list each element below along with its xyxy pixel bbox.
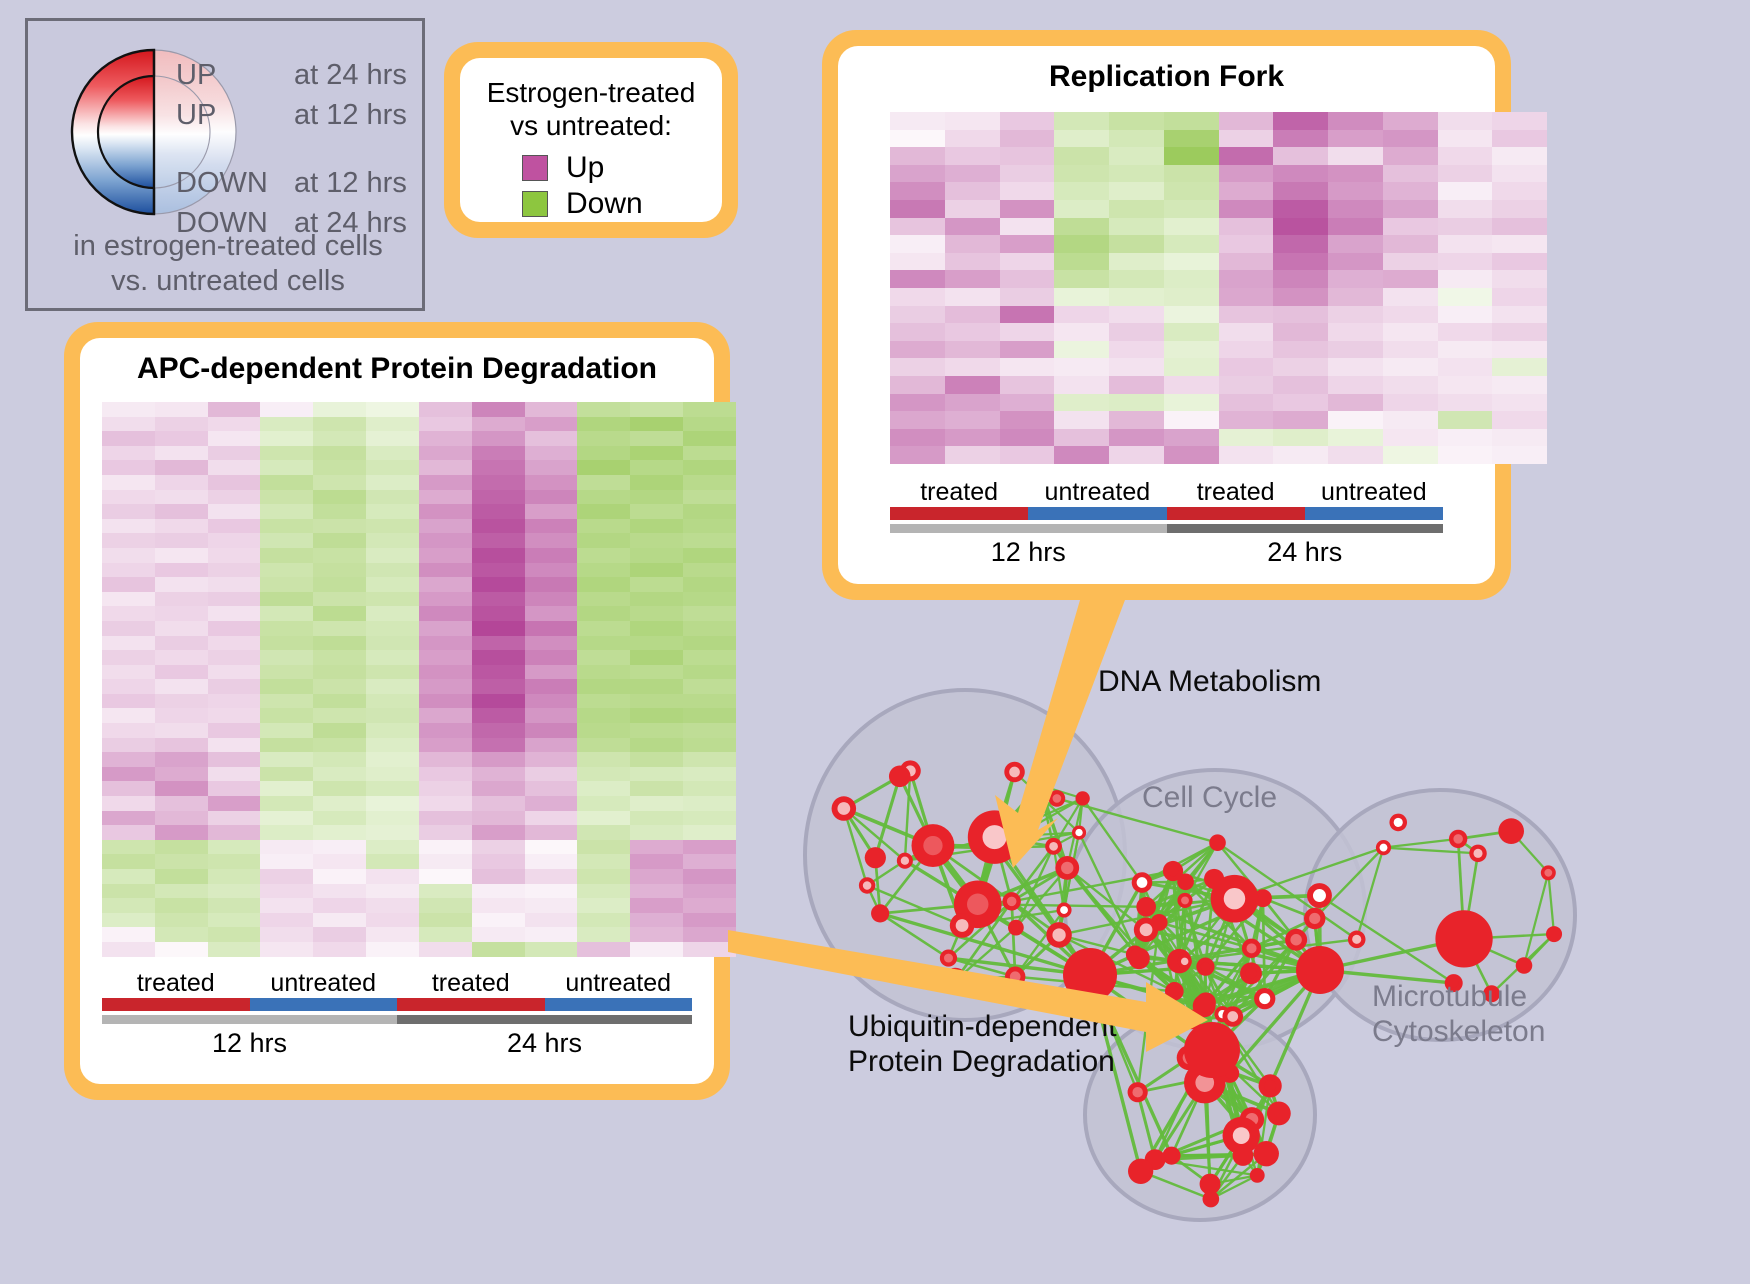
- heatmap-cell: [208, 577, 261, 592]
- network-node-center: [1060, 906, 1068, 914]
- heatmap-cell: [366, 927, 419, 942]
- network-node-center: [1052, 928, 1065, 941]
- heatmap-cell: [155, 446, 208, 461]
- group-label: treated: [397, 969, 545, 998]
- heatmap-cell: [1438, 270, 1493, 288]
- heatmap-cell: [1438, 358, 1493, 376]
- network-node-center: [1352, 935, 1361, 944]
- heatmap-cell: [366, 854, 419, 869]
- heatmap-cell: [945, 112, 1000, 130]
- heatmap-cell: [366, 577, 419, 592]
- heatmap-cell: [525, 723, 578, 738]
- heatmap-cell: [260, 679, 313, 694]
- heatmap-cell: [313, 490, 366, 505]
- heatmap-cell: [208, 854, 261, 869]
- heatmap-cell: [102, 694, 155, 709]
- network-node-center: [1309, 913, 1320, 924]
- group-label: untreated: [250, 969, 398, 998]
- heatmap-cell: [313, 884, 366, 899]
- network-node-center: [1453, 834, 1463, 844]
- network-node[interactable]: [1177, 873, 1194, 890]
- network-node[interactable]: [1203, 1191, 1220, 1208]
- treatment-bar: [397, 998, 545, 1011]
- heatmap-cell: [1438, 446, 1493, 464]
- expression-legend-panel: Estrogen-treated vs untreated: Up Down: [444, 42, 738, 238]
- down-color-swatch: [522, 191, 548, 217]
- heatmap-cell: [1219, 446, 1274, 464]
- heatmap-cell: [945, 218, 1000, 236]
- heatmap-cell: [313, 460, 366, 475]
- heatmap-cell: [472, 679, 525, 694]
- heatmap-cell: [102, 621, 155, 636]
- time-label: 24 hrs: [397, 1028, 692, 1059]
- network-node-center: [901, 857, 909, 865]
- heatmap-cell: [419, 942, 472, 957]
- heatmap-cell: [1054, 130, 1109, 148]
- heatmap-cell: [577, 694, 630, 709]
- network-node-center: [1007, 897, 1017, 907]
- heatmap-cell: [1492, 394, 1547, 412]
- heatmap-cell: [1000, 446, 1055, 464]
- network-node-center: [1169, 986, 1179, 996]
- heatmap-cell: [683, 460, 736, 475]
- heatmap-cell: [577, 767, 630, 782]
- heatmap-cell: [1164, 112, 1219, 130]
- heatmap-cell: [313, 402, 366, 417]
- heatmap-cell: [155, 796, 208, 811]
- heatmap-cell: [366, 650, 419, 665]
- heatmap-cell: [630, 723, 683, 738]
- network-node[interactable]: [1196, 992, 1216, 1012]
- heatmap-cell: [102, 577, 155, 592]
- heatmap-cell: [630, 738, 683, 753]
- up-color-swatch: [522, 155, 548, 181]
- heatmap-cell: [630, 854, 683, 869]
- heatmap-cell: [1328, 306, 1383, 324]
- heatmap-cell: [1273, 358, 1328, 376]
- heatmap-cell: [366, 942, 419, 957]
- heatmap-cell: [1492, 147, 1547, 165]
- heatmap-cell: [366, 563, 419, 578]
- heatmap-cell: [260, 781, 313, 796]
- heatmap-cell: [366, 913, 419, 928]
- heatmap-cell: [630, 636, 683, 651]
- heatmap-cell: [577, 679, 630, 694]
- heatmap-cell: [102, 679, 155, 694]
- heatmap-cell: [313, 913, 366, 928]
- network-node-center: [956, 919, 969, 932]
- heatmap-cell: [1383, 341, 1438, 359]
- heatmap-cell: [525, 679, 578, 694]
- heatmap-cell: [683, 913, 736, 928]
- heatmap-cell: [472, 665, 525, 680]
- heatmap-cell: [525, 913, 578, 928]
- treatment-bar: [545, 998, 693, 1011]
- heatmap-cell: [525, 431, 578, 446]
- heatmap-cell: [208, 533, 261, 548]
- heatmap-cell: [102, 665, 155, 680]
- heatmap-cell: [313, 767, 366, 782]
- legend-spacer: [176, 139, 426, 167]
- heatmap-cell: [1383, 429, 1438, 447]
- heatmap-cell: [1492, 429, 1547, 447]
- heatmap-cell: [1219, 182, 1274, 200]
- heatmap-cell: [577, 606, 630, 621]
- network-node-center: [983, 825, 1007, 849]
- heatmap-cell: [102, 548, 155, 563]
- heatmap-cell: [102, 490, 155, 505]
- heatmap-cell: [472, 417, 525, 432]
- heatmap-cell: [630, 665, 683, 680]
- heatmap-cell: [1109, 288, 1164, 306]
- heatmap-cell: [313, 811, 366, 826]
- heatmap-cell: [155, 417, 208, 432]
- heatmap-cell: [1054, 306, 1109, 324]
- treatment-bar: [1305, 507, 1443, 520]
- heatmap-cell: [155, 431, 208, 446]
- heatmap-cell: [1383, 288, 1438, 306]
- legend-row-up-24: UP at 24 hrs: [176, 59, 426, 99]
- heatmap-cell: [1000, 165, 1055, 183]
- heatmap-cell: [683, 825, 736, 840]
- heatmap-cell: [472, 577, 525, 592]
- heatmap-cell: [366, 475, 419, 490]
- heatmap-cell: [208, 723, 261, 738]
- heatmap-cell: [945, 341, 1000, 359]
- heatmap-cell: [1438, 376, 1493, 394]
- treatment-bar-row: [890, 507, 1443, 520]
- heatmap-cell: [260, 854, 313, 869]
- heatmap-cell: [419, 723, 472, 738]
- heatmap-cell: [577, 665, 630, 680]
- network-node[interactable]: [1063, 948, 1117, 1002]
- treatment-bar-row: [102, 998, 692, 1011]
- heatmap-cell: [577, 811, 630, 826]
- heatmap-cell: [1328, 270, 1383, 288]
- heatmap-cell: [525, 767, 578, 782]
- heatmap-cell: [366, 490, 419, 505]
- heatmap-cell: [525, 636, 578, 651]
- heatmap-cell: [1109, 235, 1164, 253]
- heatmap-cell: [102, 825, 155, 840]
- heatmap-cell: [1164, 446, 1219, 464]
- heatmap-cell: [155, 723, 208, 738]
- replication-fork-title: Replication Fork: [838, 46, 1495, 94]
- group-label: untreated: [1305, 478, 1443, 507]
- heatmap-cell: [472, 592, 525, 607]
- network-node[interactable]: [1136, 897, 1156, 917]
- heatmap-cell: [208, 504, 261, 519]
- heatmap-cell: [683, 927, 736, 942]
- heatmap-cell: [1000, 218, 1055, 236]
- heatmap-cell: [208, 431, 261, 446]
- heatmap-cell: [683, 490, 736, 505]
- heatmap-cell: [1054, 323, 1109, 341]
- heatmap-cell: [313, 927, 366, 942]
- heatmap-cell: [208, 869, 261, 884]
- heatmap-cell: [683, 665, 736, 680]
- heatmap-cell: [419, 563, 472, 578]
- heatmap-cell: [577, 490, 630, 505]
- heatmap-cell: [419, 548, 472, 563]
- heatmap-cell: [155, 402, 208, 417]
- heatmap-cell: [1438, 235, 1493, 253]
- heatmap-cell: [155, 665, 208, 680]
- heatmap-cell: [260, 694, 313, 709]
- heatmap-cell: [472, 825, 525, 840]
- heatmap-cell: [102, 927, 155, 942]
- heatmap-cell: [102, 854, 155, 869]
- heatmap-cell: [1164, 218, 1219, 236]
- heatmap-cell: [577, 636, 630, 651]
- heatmap-cell: [577, 533, 630, 548]
- heatmap-cell: [102, 708, 155, 723]
- heatmap-cell: [208, 475, 261, 490]
- heatmap-cell: [890, 358, 945, 376]
- time-bar: [890, 524, 1167, 533]
- heatmap-cell: [102, 519, 155, 534]
- heatmap-cell: [1383, 112, 1438, 130]
- heatmap-cell: [208, 446, 261, 461]
- heatmap-cell: [313, 650, 366, 665]
- heatmap-cell: [1438, 218, 1493, 236]
- network-node[interactable]: [1296, 946, 1344, 994]
- network-node[interactable]: [1209, 834, 1226, 851]
- heatmap-cell: [102, 402, 155, 417]
- heatmap-cell: [419, 884, 472, 899]
- heatmap-cell: [1054, 341, 1109, 359]
- heatmap-cell: [419, 694, 472, 709]
- heatmap-cell: [155, 504, 208, 519]
- heatmap-cell: [1492, 253, 1547, 271]
- network-node-center: [967, 894, 988, 915]
- heatmap-cell: [890, 376, 945, 394]
- heatmap-cell: [313, 563, 366, 578]
- heatmap-cell: [102, 417, 155, 432]
- heatmap-cell: [1109, 429, 1164, 447]
- network-node[interactable]: [1151, 914, 1168, 931]
- heatmap-cell: [945, 358, 1000, 376]
- heatmap-cell: [683, 840, 736, 855]
- heatmap-cell: [1164, 288, 1219, 306]
- heatmap-cell: [260, 825, 313, 840]
- heatmap-cell: [260, 519, 313, 534]
- heatmap-cell: [577, 504, 630, 519]
- heatmap-cell: [419, 796, 472, 811]
- heatmap-cell: [525, 825, 578, 840]
- heatmap-cell: [945, 270, 1000, 288]
- network-node[interactable]: [1128, 1159, 1153, 1184]
- heatmap-cell: [1383, 200, 1438, 218]
- time-bar-row: [890, 524, 1443, 533]
- heatmap-cell: [890, 446, 945, 464]
- heatmap-cell: [260, 884, 313, 899]
- colorwheel-label-list: UP at 24 hrs UP at 12 hrs DOWN at 12 hrs…: [176, 59, 426, 247]
- heatmap-cell: [313, 446, 366, 461]
- time-bar: [102, 1015, 397, 1024]
- heatmap-cell: [208, 417, 261, 432]
- heatmap-cell: [472, 869, 525, 884]
- network-node[interactable]: [1516, 957, 1533, 974]
- heatmap-cell: [683, 738, 736, 753]
- time-bar: [397, 1015, 692, 1024]
- heatmap-cell: [630, 490, 683, 505]
- heatmap-cell: [1438, 200, 1493, 218]
- network-node-center: [1137, 877, 1148, 888]
- heatmap-cell: [366, 781, 419, 796]
- heatmap-cell: [525, 606, 578, 621]
- heatmap-cell: [155, 490, 208, 505]
- network-node[interactable]: [1498, 818, 1524, 844]
- heatmap-cell: [683, 402, 736, 417]
- heatmap-cell: [1328, 429, 1383, 447]
- heatmap-cell: [260, 752, 313, 767]
- cluster-label-microtubule-cytoskeleton: Microtubule Cytoskeleton: [1372, 980, 1545, 1050]
- network-node[interactable]: [1128, 948, 1149, 969]
- heatmap-cell: [1164, 394, 1219, 412]
- heatmap-cell: [1164, 253, 1219, 271]
- heatmap-cell: [577, 621, 630, 636]
- heatmap-cell: [419, 519, 472, 534]
- heatmap-cell: [1164, 429, 1219, 447]
- heatmap-cell: [1383, 394, 1438, 412]
- heatmap-cell: [155, 460, 208, 475]
- heatmap-cell: [1219, 200, 1274, 218]
- network-node[interactable]: [1075, 791, 1089, 805]
- heatmap-cell: [1000, 429, 1055, 447]
- network-node[interactable]: [1546, 926, 1562, 942]
- heatmap-cell: [155, 752, 208, 767]
- heatmap-cell: [890, 218, 945, 236]
- heatmap-cell: [945, 376, 1000, 394]
- heatmap-cell: [155, 840, 208, 855]
- heatmap-cell: [208, 752, 261, 767]
- heatmap-cell: [577, 840, 630, 855]
- heatmap-cell: [208, 913, 261, 928]
- heatmap-cell: [525, 490, 578, 505]
- heatmap-cell: [1438, 394, 1493, 412]
- heatmap-cell: [890, 288, 945, 306]
- network-node[interactable]: [865, 847, 886, 868]
- network-node[interactable]: [889, 766, 911, 788]
- heatmap-cell: [683, 636, 736, 651]
- heatmap-cell: [525, 738, 578, 753]
- network-node-center: [1473, 849, 1482, 858]
- heatmap-cell: [683, 708, 736, 723]
- heatmap-cell: [313, 942, 366, 957]
- network-node-center: [1544, 869, 1552, 877]
- heatmap-cell: [1219, 306, 1274, 324]
- heatmap-cell: [525, 475, 578, 490]
- heatmap-cell: [1054, 147, 1109, 165]
- heatmap-cell: [1164, 411, 1219, 429]
- heatmap-cell: [683, 694, 736, 709]
- heatmap-cell: [525, 898, 578, 913]
- heatmap-cell: [102, 738, 155, 753]
- heatmap-cell: [525, 460, 578, 475]
- heatmap-cell: [945, 323, 1000, 341]
- expression-legend-items: Up Down: [460, 150, 722, 222]
- heatmap-cell: [102, 942, 155, 957]
- heatmap-cell: [208, 650, 261, 665]
- heatmap-cell: [630, 548, 683, 563]
- heatmap-cell: [577, 446, 630, 461]
- heatmap-cell: [1054, 411, 1109, 429]
- group-label: treated: [890, 478, 1028, 507]
- network-node[interactable]: [1250, 1168, 1265, 1183]
- heatmap-cell: [472, 723, 525, 738]
- heatmap-cell: [208, 563, 261, 578]
- heatmap-cell: [208, 811, 261, 826]
- network-node-center: [1010, 971, 1021, 982]
- time-label: 12 hrs: [890, 537, 1167, 568]
- heatmap-cell: [1328, 112, 1383, 130]
- heatmap-cell: [155, 854, 208, 869]
- heatmap-cell: [208, 592, 261, 607]
- heatmap-cell: [260, 402, 313, 417]
- heatmap-cell: [208, 402, 261, 417]
- heatmap-cell: [208, 548, 261, 563]
- heatmap-cell: [155, 650, 208, 665]
- heatmap-cell: [419, 708, 472, 723]
- heatmap-cell: [419, 621, 472, 636]
- heatmap-cell: [102, 869, 155, 884]
- heatmap-cell: [366, 519, 419, 534]
- heatmap-cell: [155, 927, 208, 942]
- network-node-center: [1140, 923, 1153, 936]
- network-node[interactable]: [871, 904, 889, 922]
- heatmap-cell: [1328, 358, 1383, 376]
- heatmap-cell: [1219, 288, 1274, 306]
- heatmap-cell: [260, 869, 313, 884]
- heatmap-cell: [525, 417, 578, 432]
- heatmap-cell: [683, 942, 736, 957]
- heatmap-cell: [577, 650, 630, 665]
- heatmap-cell: [945, 130, 1000, 148]
- heatmap-cell: [1273, 218, 1328, 236]
- legend-row-up-12: UP at 12 hrs: [176, 99, 426, 139]
- heatmap-cell: [1492, 358, 1547, 376]
- heatmap-cell: [1328, 218, 1383, 236]
- heatmap-cell: [260, 563, 313, 578]
- heatmap-cell: [1219, 429, 1274, 447]
- network-node[interactable]: [1435, 910, 1492, 967]
- network-node[interactable]: [1267, 1101, 1291, 1125]
- heatmap-cell: [1273, 235, 1328, 253]
- network-node[interactable]: [1233, 1145, 1254, 1166]
- heatmap-cell: [577, 913, 630, 928]
- heatmap-cell: [208, 606, 261, 621]
- heatmap-cell: [366, 708, 419, 723]
- heatmap-cell: [260, 592, 313, 607]
- heatmap-cell: [1492, 182, 1547, 200]
- heatmap-cell: [1219, 147, 1274, 165]
- heatmap-cell: [313, 606, 366, 621]
- heatmap-cell: [155, 519, 208, 534]
- network-node[interactable]: [1184, 1022, 1240, 1078]
- heatmap-cell: [102, 840, 155, 855]
- heatmap-cell: [1054, 200, 1109, 218]
- heatmap-cell: [102, 431, 155, 446]
- heatmap-cell: [1273, 147, 1328, 165]
- heatmap-cell: [313, 592, 366, 607]
- heatmap-cell: [630, 752, 683, 767]
- network-node-center: [1264, 1080, 1276, 1092]
- heatmap-cell: [683, 446, 736, 461]
- heatmap-cell: [525, 519, 578, 534]
- heatmap-cell: [313, 665, 366, 680]
- heatmap-cell: [260, 796, 313, 811]
